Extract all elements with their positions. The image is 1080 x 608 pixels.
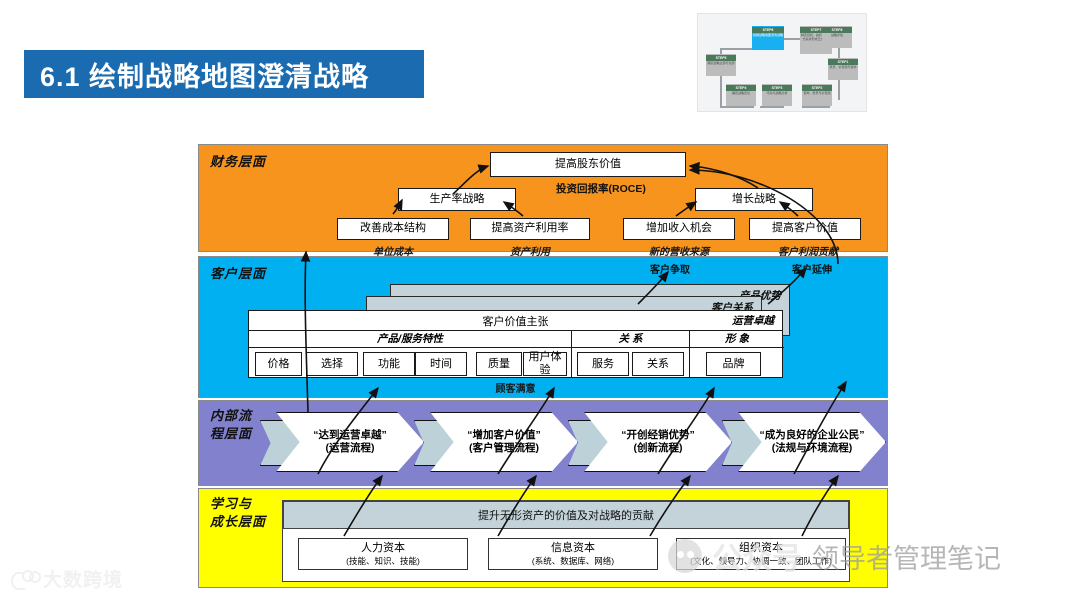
thumb-connector <box>760 106 784 108</box>
brand-logo-icon <box>10 570 36 588</box>
strategy-map: 财务层面 提高股东价值 投资回报率(ROCE) 生产率战略 增长战略 改善成本结… <box>198 144 888 588</box>
watermark-left-text: 大数跨境 <box>43 565 123 592</box>
thumb-step-body: 使命、愿景与价值观 <box>802 91 831 97</box>
thumb-connector <box>720 106 754 108</box>
thumb-connector <box>720 48 752 50</box>
watermark-left: 大数跨境 <box>10 565 123 592</box>
thumb-step-6[interactable]: STEP6 绘制战略地图澄清战略 <box>752 26 784 50</box>
thumb-step-2[interactable]: STEP2 使命、愿景与价值观 <box>802 84 832 106</box>
thumb-step-3[interactable]: STEP3 环境与战略分析 <box>762 84 792 106</box>
thumb-step-1[interactable]: STEP1 愿景、价值观与使命 <box>828 58 858 80</box>
slide-title-banner: 6.1 绘制战略地图澄清战略 <box>24 50 424 98</box>
causal-arrows <box>305 162 846 536</box>
thumb-step-body: 愿景、价值观与使命 <box>828 65 857 71</box>
thumb-step-4[interactable]: STEP4 确定战略定位 <box>726 84 756 106</box>
slide-thumbnail[interactable]: STEP6 绘制战略地图澄清战略 STEP7 制定目标、指标与行动方案并形成正式… <box>697 13 867 112</box>
thumb-connector <box>838 78 840 100</box>
thumb-step-body: 确定战略定位 <box>731 91 751 97</box>
causal-arrow-layer <box>198 144 888 588</box>
thumb-step-body: 环境与战略分析 <box>765 91 788 97</box>
thumb-step-body: 确定战略主题与议题 <box>706 61 735 67</box>
thumb-connector <box>802 106 830 108</box>
thumb-step-8[interactable]: STEP8 战略评估 <box>822 26 852 48</box>
thumb-step-body: 绘制战略地图澄清战略 <box>752 33 784 39</box>
page-title: 6.1 绘制战略地图澄清战略 <box>24 55 369 94</box>
thumb-step-5[interactable]: STEP5 确定战略主题与议题 <box>706 54 736 76</box>
thumb-step-body: 战略评估 <box>830 33 844 39</box>
